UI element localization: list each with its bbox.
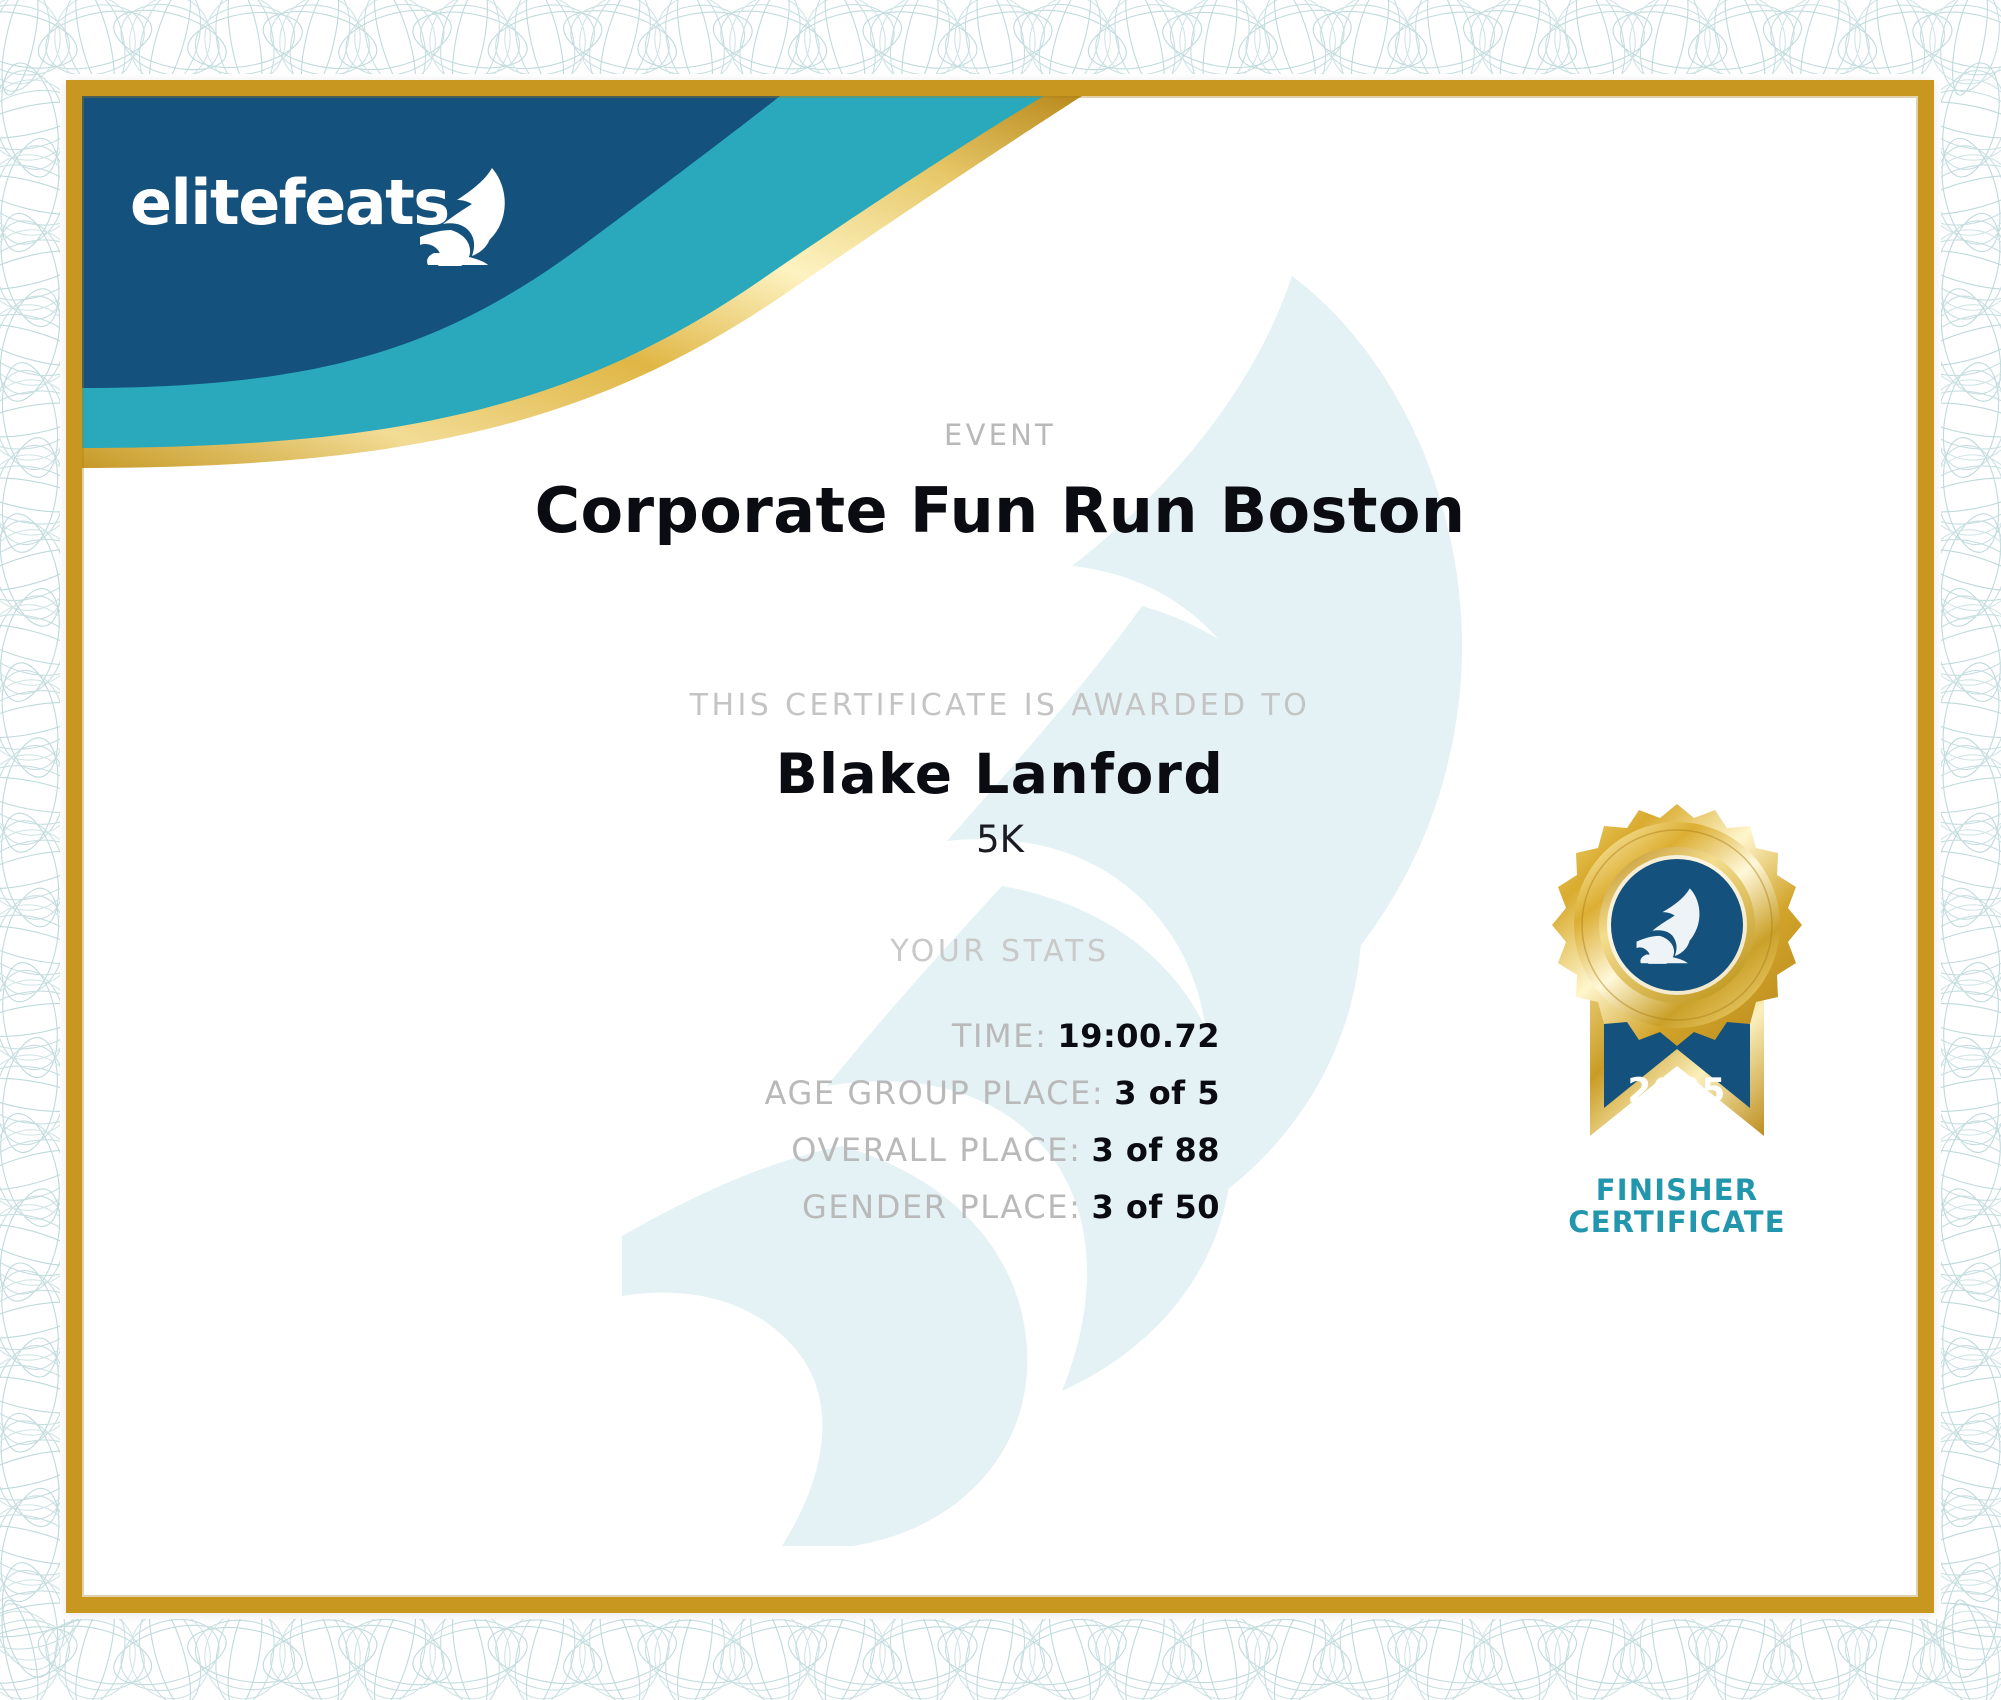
- stat-row-overall-place: OVERALL PLACE:3 of 88: [82, 1122, 1220, 1179]
- elitefeats-logo: elitefeats: [130, 168, 550, 288]
- stat-value: 3 of 88: [1092, 1131, 1220, 1169]
- stat-value: 19:00.72: [1057, 1017, 1220, 1055]
- stat-value: 3 of 5: [1114, 1074, 1220, 1112]
- stat-row-time: TIME:19:00.72: [82, 1008, 1220, 1065]
- medal-year: 2025: [1628, 1071, 1727, 1111]
- medal-graphic: 2025: [1512, 796, 1842, 1176]
- stat-row-gender-place: GENDER PLACE:3 of 50: [82, 1179, 1220, 1236]
- event-label: EVENT: [82, 418, 1918, 452]
- seal-caption-line2: CERTIFICATE: [1512, 1206, 1842, 1238]
- certificate-frame: elitefeats EVENT Corporate Fun Run Bosto…: [66, 80, 1934, 1613]
- event-name: Corporate Fun Run Boston: [82, 474, 1918, 547]
- stat-key: AGE GROUP PLACE:: [765, 1074, 1105, 1112]
- seal-caption-line1: FINISHER: [1512, 1174, 1842, 1206]
- awarded-to-label: THIS CERTIFICATE IS AWARDED TO: [82, 688, 1918, 723]
- stat-row-age-group-place: AGE GROUP PLACE:3 of 5: [82, 1065, 1220, 1122]
- stat-key: OVERALL PLACE:: [791, 1131, 1081, 1169]
- certificate-body: elitefeats EVENT Corporate Fun Run Bosto…: [82, 96, 1918, 1597]
- stats-list: TIME:19:00.72 AGE GROUP PLACE:3 of 5 OVE…: [82, 1008, 1220, 1236]
- stat-value: 3 of 50: [1092, 1188, 1220, 1226]
- stat-key: TIME:: [952, 1017, 1048, 1055]
- stat-key: GENDER PLACE:: [802, 1188, 1082, 1226]
- certificate-page: elitefeats EVENT Corporate Fun Run Bosto…: [0, 0, 2001, 1700]
- logo-wordmark: elitefeats: [130, 172, 449, 234]
- seal-caption: FINISHER CERTIFICATE: [1512, 1174, 1842, 1239]
- header-swoosh-graphic: [82, 96, 1082, 516]
- finisher-medal-seal: 2025 FINISHER CERTIFICATE: [1512, 796, 1842, 1266]
- winged-foot-icon: [420, 160, 530, 270]
